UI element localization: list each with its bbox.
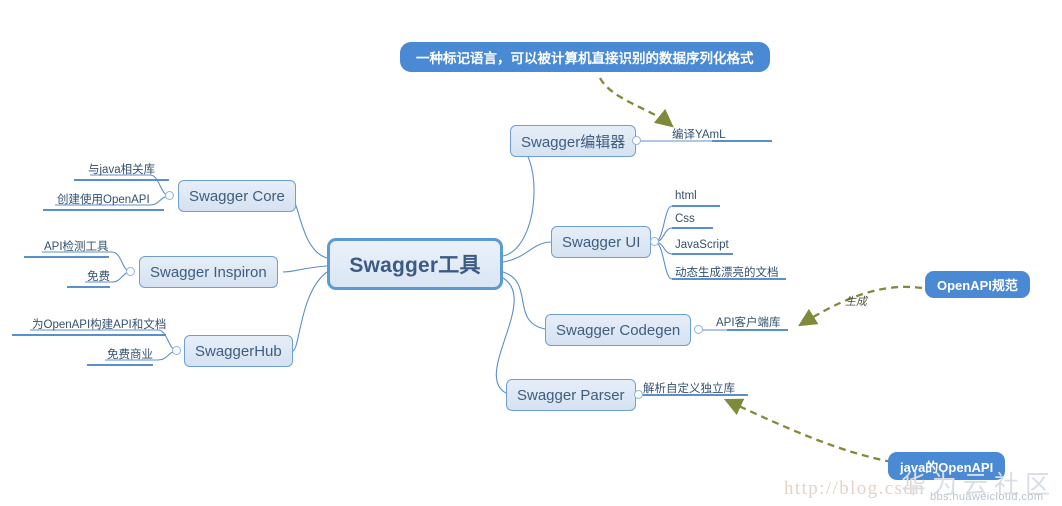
callout-yaml-description[interactable]: 一种标记语言，可以被计算机直接识别的数据序列化格式: [400, 42, 770, 72]
callout-java-openapi[interactable]: java的OpenAPI: [888, 452, 1005, 480]
arrow-label-generate: 生成: [845, 293, 867, 309]
node-label: Swagger Parser: [517, 387, 625, 404]
root-node-label: Swagger工具: [349, 249, 480, 279]
leaf-create-use-openapi[interactable]: 创建使用OpenAPI: [57, 191, 150, 209]
leaf-html[interactable]: html: [675, 190, 697, 204]
node-label: Swagger编辑器: [521, 131, 625, 152]
node-swagger-parser[interactable]: Swagger Parser: [506, 379, 636, 411]
leaf-api-client-lib[interactable]: API客户端库: [716, 314, 781, 332]
collapse-handle-swagger-core[interactable]: [165, 191, 174, 200]
leaf-compile-yaml[interactable]: 编译YAmL: [672, 126, 725, 144]
leaf-free-commercial[interactable]: 免费商业: [107, 346, 153, 364]
root-node[interactable]: Swagger工具: [327, 238, 503, 290]
leaf-build-api-and-docs[interactable]: 为OpenAPI构建API和文档: [32, 316, 166, 334]
leaf-api-test-tool[interactable]: API检测工具: [44, 238, 109, 256]
node-swagger-codegen[interactable]: Swagger Codegen: [545, 314, 691, 346]
node-swagger-core[interactable]: Swagger Core: [178, 180, 296, 212]
collapse-handle-swagger-inspiron[interactable]: [126, 267, 135, 276]
node-label: Swagger Codegen: [556, 322, 680, 339]
collapse-handle-swagger-parser[interactable]: [634, 390, 643, 399]
node-swaggerhub[interactable]: SwaggerHub: [184, 335, 293, 367]
leaf-parse-standalone-lib[interactable]: 解析自定义独立库: [643, 380, 735, 398]
collapse-handle-swaggerhub[interactable]: [172, 346, 181, 355]
mindmap-canvas: Swagger工具 Swagger Core Swagger Inspiron …: [0, 0, 1062, 506]
callout-openapi-spec[interactable]: OpenAPI规范: [925, 271, 1030, 298]
node-label: SwaggerHub: [195, 343, 282, 360]
collapse-handle-swagger-codegen[interactable]: [694, 325, 703, 334]
node-swagger-inspiron[interactable]: Swagger Inspiron: [139, 256, 278, 288]
node-label: Swagger Core: [189, 188, 285, 205]
watermark-csdn: http://blog.csdn: [784, 478, 925, 500]
node-label: Swagger Inspiron: [150, 264, 267, 281]
watermark-huawei-cloud-url: bbs.huaweicloud.com: [930, 491, 1043, 503]
leaf-css[interactable]: Css: [675, 213, 695, 227]
node-label: Swagger UI: [562, 234, 640, 251]
node-swagger-editor[interactable]: Swagger编辑器: [510, 125, 636, 157]
leaf-javascript[interactable]: JavaScript: [675, 239, 729, 253]
leaf-dynamic-docs[interactable]: 动态生成漂亮的文档: [675, 264, 779, 282]
collapse-handle-swagger-ui[interactable]: [650, 237, 659, 246]
leaf-java-related-lib[interactable]: 与java相关库: [88, 161, 155, 179]
node-swagger-ui[interactable]: Swagger UI: [551, 226, 651, 258]
connector-layer: [0, 0, 1062, 506]
leaf-free[interactable]: 免费: [87, 268, 110, 286]
collapse-handle-swagger-editor[interactable]: [632, 136, 641, 145]
